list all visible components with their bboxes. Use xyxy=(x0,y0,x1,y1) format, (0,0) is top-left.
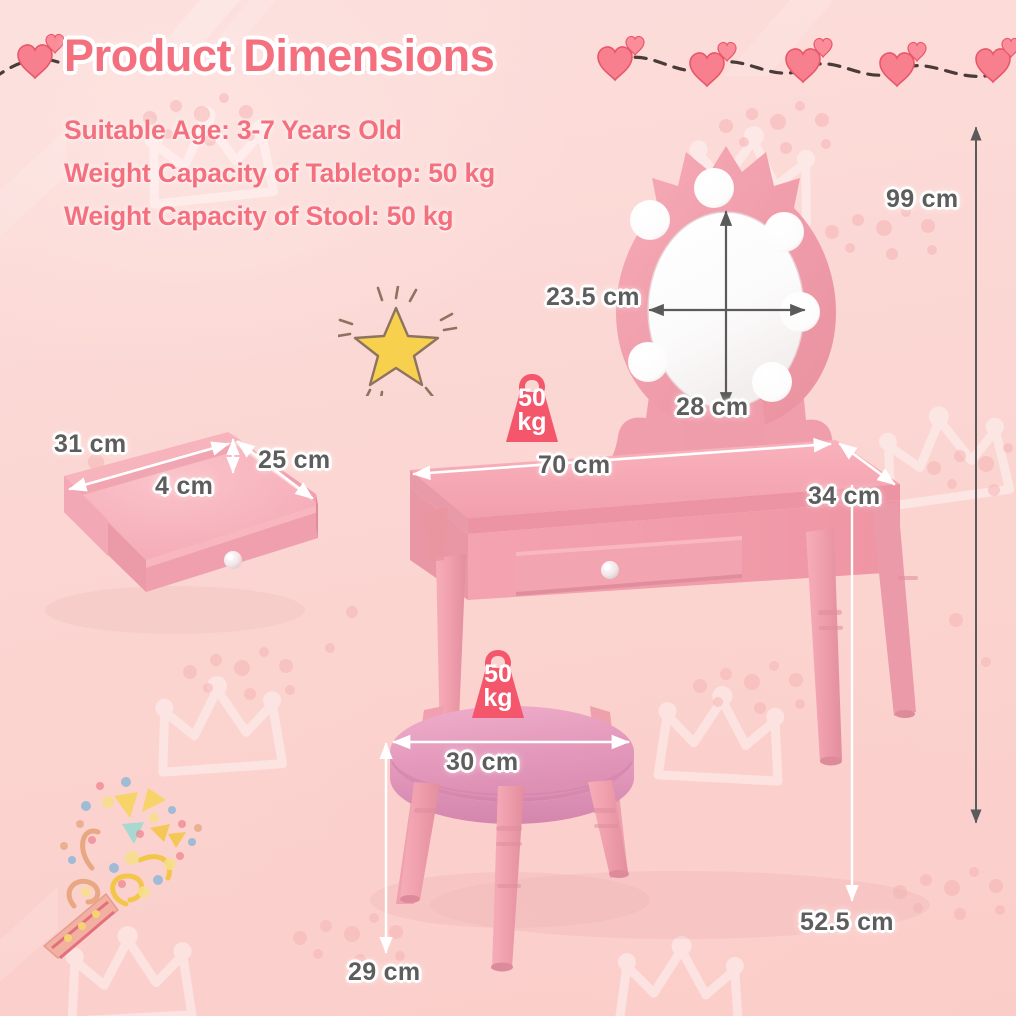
label-drawer-height: 4 cm xyxy=(155,472,213,501)
label-drawer-depth: 25 cm xyxy=(258,446,330,475)
label-mirror-width: 23.5 cm xyxy=(546,283,640,312)
label-mirror-height: 28 cm xyxy=(676,393,748,422)
infographic-canvas: Product Dimensions Suitable Age: 3-7 Yea… xyxy=(0,0,1016,1016)
weight-badge-text: 50 kg xyxy=(500,386,564,434)
weight-badge-stool: 50 kg xyxy=(466,648,530,720)
label-drawer-width: 31 cm xyxy=(54,430,126,459)
drawer-knob xyxy=(224,551,242,569)
label-desk-depth: 34 cm xyxy=(808,482,880,511)
weight-badge-text: 50 kg xyxy=(466,662,530,710)
label-desk-height: 52.5 cm xyxy=(800,908,894,937)
weight-badge-tabletop: 50 kg xyxy=(500,372,564,444)
label-desk-width: 70 cm xyxy=(538,451,610,480)
label-total-height: 99 cm xyxy=(886,185,958,214)
label-stool-seat-width: 30 cm xyxy=(446,748,518,777)
label-stool-height: 29 cm xyxy=(348,958,420,987)
desk-drawer-knob xyxy=(601,561,619,579)
